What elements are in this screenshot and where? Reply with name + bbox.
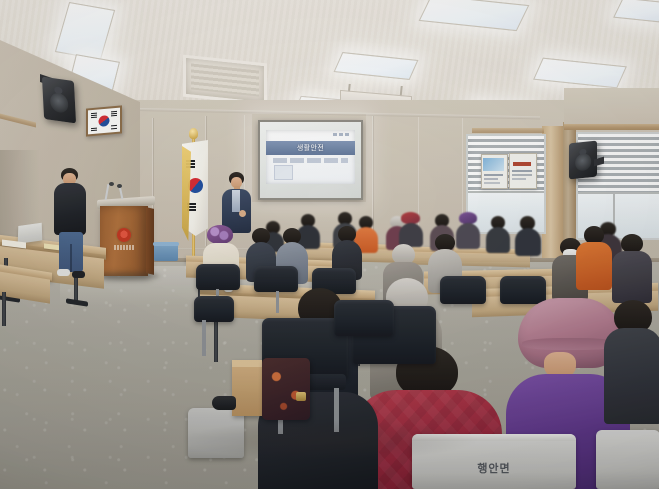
torso <box>604 328 659 424</box>
photo-scene: 생활안전 <box>0 0 659 489</box>
staff-person <box>52 168 90 278</box>
floral-handbag-clasp-icon <box>296 392 306 401</box>
kraft-paper-bag[interactable] <box>232 360 262 416</box>
foreground-shadow <box>180 420 480 460</box>
right-wall-upper <box>564 88 659 128</box>
microphone-head-icon <box>109 182 114 186</box>
chair-mid-dark-3[interactable] <box>334 300 394 336</box>
chair-left-mid-leg <box>202 320 206 356</box>
emblem-text <box>114 245 134 250</box>
speaker-right <box>569 141 597 180</box>
staff-shoe-left <box>57 269 70 276</box>
blue-basket-rim <box>153 242 179 246</box>
purple-knit-hat-icon <box>207 225 233 244</box>
audience-person-r2-8-orange <box>576 226 612 288</box>
table-row-1-leg-1 <box>214 316 218 362</box>
projected-slide: 생활안전 <box>266 130 355 184</box>
kraft-bag-fold <box>232 360 262 367</box>
slide-title-band: 생활안전 <box>266 141 355 155</box>
wall-poster-right-text-3 <box>512 178 526 180</box>
torso <box>576 242 612 290</box>
slide-corner-marks <box>333 133 349 136</box>
wall-poster-right-text-2 <box>512 174 532 176</box>
chair-front-right[interactable] <box>596 430 659 489</box>
wall-poster-right-text <box>512 170 532 172</box>
podium-emblem <box>114 228 134 250</box>
speaker-left <box>42 77 76 124</box>
wall-poster-left-image <box>483 158 504 171</box>
audience-person-r3-6-hat <box>399 212 423 244</box>
laptop[interactable] <box>18 223 43 244</box>
torso <box>612 251 652 303</box>
slide-title: 생활안전 <box>297 143 324 153</box>
window-mullion-right <box>578 192 659 194</box>
staff-jacket <box>54 183 86 235</box>
wall-poster-left-text-2 <box>484 178 498 180</box>
shoe-near-bag <box>212 396 236 410</box>
torso <box>486 227 510 253</box>
presenter-hand <box>239 210 246 217</box>
chair-mid-4[interactable] <box>440 276 486 304</box>
podium-shadow <box>96 272 160 280</box>
presenter-shirt <box>232 190 240 212</box>
audience-person-r3-9 <box>486 216 510 250</box>
chair-mid-1[interactable] <box>196 264 240 290</box>
podium-front-panel <box>100 206 148 276</box>
wall-poster-left-text <box>484 174 503 176</box>
podium-side-panel <box>146 207 154 275</box>
audience-person-r2-9 <box>612 234 652 300</box>
framed-korean-flag <box>86 105 122 136</box>
chair-label: 행안면 <box>412 460 576 476</box>
window-mullion-left <box>468 191 544 193</box>
audience-person-f5-right-edge <box>604 300 659 420</box>
staff-shoe-right <box>72 271 85 278</box>
audience-person-r3-10 <box>515 216 541 252</box>
projection-screen: 생활안전 <box>258 120 363 200</box>
taeguk-icon <box>96 113 111 128</box>
microphone-head-icon-2 <box>117 184 122 188</box>
projection-screen-surface: 생활안전 <box>260 122 361 198</box>
staff-jeans-split <box>70 244 72 272</box>
torso <box>515 228 541 256</box>
wall-poster-left-text-3 <box>484 182 500 184</box>
ceiling-vent <box>183 55 267 106</box>
chair-left-mid[interactable] <box>194 296 234 322</box>
floral-handbag[interactable] <box>262 358 310 420</box>
right-wall-trim-2 <box>472 128 544 133</box>
slide-logo <box>274 165 293 180</box>
front-left-table-leg <box>2 292 6 326</box>
slide-subtitle-lines <box>273 158 348 163</box>
flag-pole-finial-icon <box>189 128 198 139</box>
right-wall-trim <box>564 124 659 130</box>
podium[interactable] <box>100 198 152 276</box>
emblem-flower-icon <box>117 228 131 242</box>
wall-poster-right-heading <box>513 162 531 166</box>
